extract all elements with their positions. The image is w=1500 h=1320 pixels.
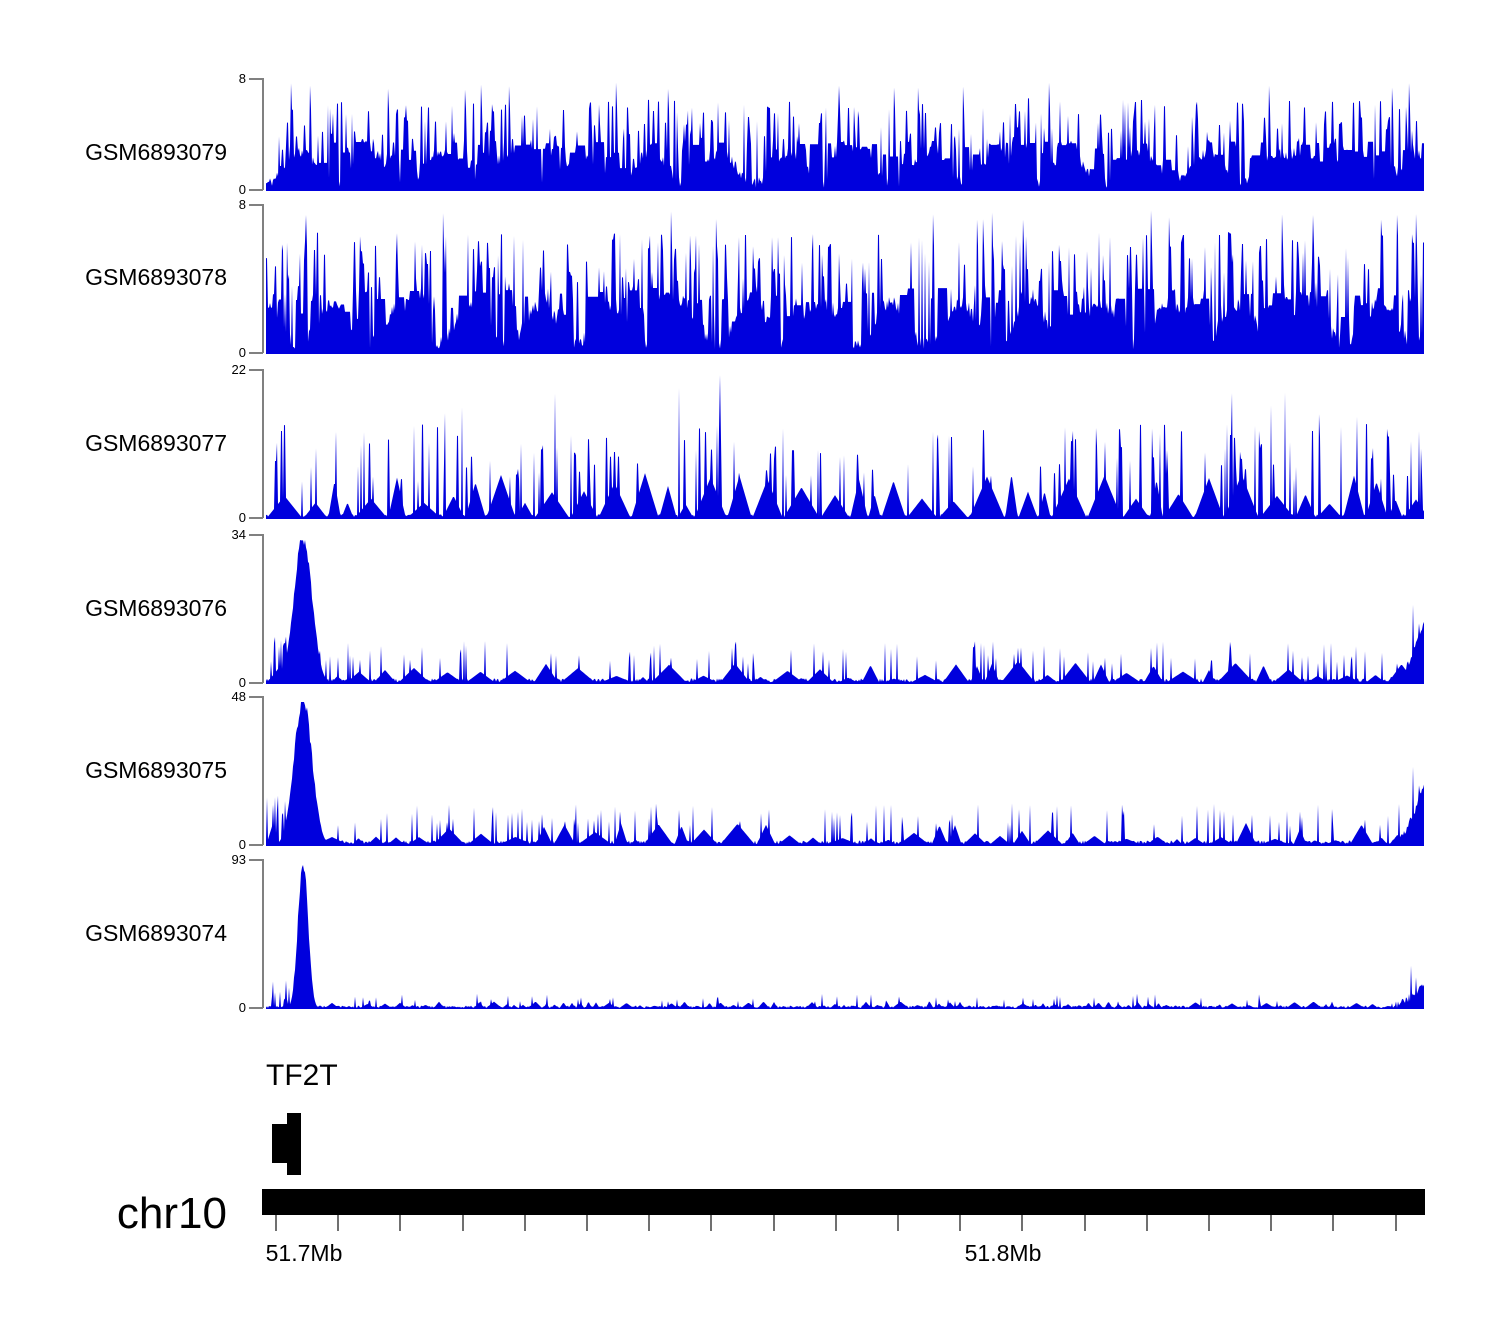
ruler-tick-minor — [337, 1215, 339, 1231]
track-y-axis — [262, 369, 264, 518]
ruler-tick-minor — [1146, 1215, 1148, 1231]
coverage-plot[interactable] — [266, 204, 1425, 354]
coverage-plot[interactable] — [266, 534, 1425, 684]
ruler-tick-minor — [399, 1215, 401, 1231]
coverage-svg — [266, 696, 1425, 846]
ruler-tick-minor — [586, 1215, 588, 1231]
axis-max-value: 48 — [206, 690, 246, 703]
axis-min-value: 0 — [206, 838, 246, 851]
track-label: GSM6893074 — [0, 922, 227, 945]
ruler-tick-minor — [1270, 1215, 1272, 1231]
axis-tick-bottom — [249, 352, 263, 354]
genome-browser: GSM6893079 8 0 GSM6893078 8 0 GSM6893077… — [0, 0, 1500, 1320]
track-y-axis — [262, 534, 264, 683]
axis-min-value: 0 — [206, 676, 246, 689]
signal-track: GSM6893075 48 0 — [0, 692, 1500, 845]
ruler-tick-minor — [648, 1215, 650, 1231]
track-label: GSM6893076 — [0, 597, 227, 620]
gene-name-label: TF2T — [266, 1061, 338, 1091]
signal-track: GSM6893076 34 0 — [0, 530, 1500, 683]
track-label: GSM6893078 — [0, 266, 227, 289]
axis-tick-top — [249, 696, 263, 698]
coverage-path-group — [266, 540, 1424, 684]
axis-min-value: 0 — [206, 183, 246, 196]
coverage-path-group — [266, 210, 1424, 354]
coverage-path-group — [266, 702, 1424, 846]
axis-min-value: 0 — [206, 511, 246, 524]
axis-max-value: 34 — [206, 528, 246, 541]
ruler-tick-minor — [524, 1215, 526, 1231]
coverage-plot[interactable] — [266, 369, 1425, 519]
signal-track: GSM6893074 93 0 — [0, 855, 1500, 1008]
coverage-svg — [266, 369, 1425, 519]
gene-annotation-track: TF2T — [0, 1055, 1500, 1185]
ruler-tick-minor — [773, 1215, 775, 1231]
signal-track: GSM6893078 8 0 — [0, 200, 1500, 353]
axis-tick-bottom — [249, 517, 263, 519]
axis-tick-bottom — [249, 1007, 263, 1009]
axis-tick-bottom — [249, 844, 263, 846]
chromosome-label: chr10 — [0, 1192, 227, 1236]
track-label: GSM6893079 — [0, 141, 227, 164]
track-y-axis — [262, 78, 264, 190]
axis-max-value: 93 — [206, 853, 246, 866]
coverage-plot[interactable] — [266, 859, 1425, 1009]
ruler-tick-label: 51.8Mb — [965, 1242, 1042, 1265]
chromosome-ruler: chr10 51.7Mb 51.8Mb — [0, 1185, 1500, 1320]
ruler-tick-minor — [1208, 1215, 1210, 1231]
axis-min-value: 0 — [206, 1001, 246, 1014]
track-y-axis — [262, 859, 264, 1008]
ruler-tick-minor — [462, 1215, 464, 1231]
gene-exon-wide[interactable] — [272, 1124, 300, 1163]
ruler-tick-label: 51.7Mb — [266, 1242, 343, 1265]
signal-track: GSM6893077 22 0 — [0, 365, 1500, 518]
coverage-plot[interactable] — [266, 78, 1425, 191]
ruler-tick-minor — [897, 1215, 899, 1231]
axis-tick-bottom — [249, 189, 263, 191]
ruler-tick-minor — [1021, 1215, 1023, 1231]
coverage-svg — [266, 859, 1425, 1009]
ruler-tick-minor — [275, 1215, 277, 1231]
coverage-path-group — [266, 865, 1424, 1009]
coverage-plot[interactable] — [266, 696, 1425, 846]
coverage-svg — [266, 78, 1425, 191]
track-label: GSM6893075 — [0, 759, 227, 782]
axis-max-value: 8 — [206, 72, 246, 85]
axis-tick-top — [249, 534, 263, 536]
ruler-tick-minor — [835, 1215, 837, 1231]
axis-tick-top — [249, 859, 263, 861]
ruler-bar[interactable] — [262, 1189, 1425, 1215]
signal-track: GSM6893079 8 0 — [0, 38, 1500, 191]
axis-tick-top — [249, 78, 263, 80]
coverage-svg — [266, 534, 1425, 684]
ruler-tick-minor — [1084, 1215, 1086, 1231]
coverage-path-group — [266, 375, 1424, 519]
axis-tick-bottom — [249, 682, 263, 684]
track-label: GSM6893077 — [0, 432, 227, 455]
axis-max-value: 22 — [206, 363, 246, 376]
ruler-tick-minor — [710, 1215, 712, 1231]
axis-tick-top — [249, 204, 263, 206]
axis-max-value: 8 — [206, 198, 246, 211]
track-y-axis — [262, 204, 264, 353]
axis-tick-top — [249, 369, 263, 371]
axis-min-value: 0 — [206, 346, 246, 359]
ruler-tick-minor — [1395, 1215, 1397, 1231]
track-y-axis — [262, 696, 264, 845]
coverage-svg — [266, 204, 1425, 354]
coverage-path-group — [266, 83, 1424, 191]
ruler-tick-minor — [959, 1215, 961, 1231]
ruler-tick-minor — [1332, 1215, 1334, 1231]
